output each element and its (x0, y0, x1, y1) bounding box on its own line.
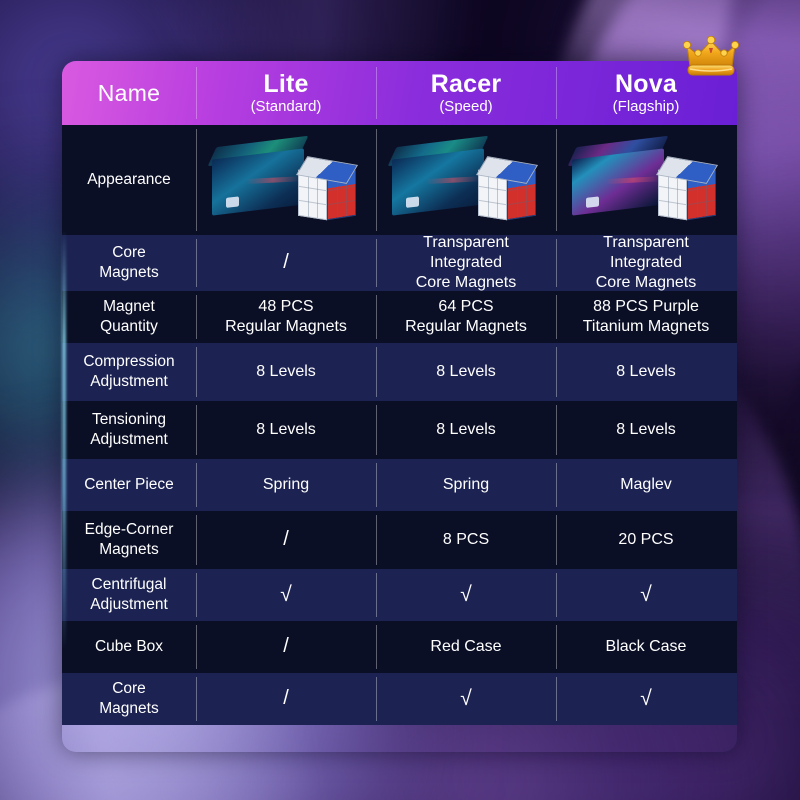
cell-value: 20 PCS (618, 530, 673, 550)
cube-gridline (668, 172, 669, 216)
row-label-cell: CoreMagnets (62, 673, 196, 725)
cell-value: / (283, 527, 289, 552)
row-label: Appearance (87, 170, 171, 190)
row-value-cell: 88 PCS PurpleTitanium Magnets (556, 291, 736, 343)
cube-box-lite-image (206, 136, 366, 224)
row-value-cell: 8 Levels (196, 401, 376, 459)
row-label-cell: CentrifugalAdjustment (62, 569, 196, 621)
rubiks-cube-image (298, 162, 358, 222)
row-label: CoreMagnets (99, 243, 158, 282)
crown-icon (683, 36, 739, 80)
header-title: Racer (431, 71, 502, 97)
table-row: Cube Box/Red CaseBlack Case (62, 621, 737, 673)
table-row: Center PieceSpringSpringMaglev (62, 459, 737, 511)
table-row: Appearance (62, 125, 737, 235)
table-row: CentrifugalAdjustment√√√ (62, 569, 737, 621)
cell-value: 8 Levels (616, 362, 676, 382)
cube-gridline (659, 185, 686, 190)
row-value-cell: Spring (196, 459, 376, 511)
row-label-cell: MagnetQuantity (62, 291, 196, 343)
row-label: Center Piece (84, 475, 174, 495)
cell-value: 8 Levels (256, 420, 316, 440)
row-value-cell: 8 Levels (376, 343, 556, 401)
row-value-cell (556, 125, 736, 235)
cell-value: 8 PCS (443, 530, 489, 550)
brand-logo-icon (586, 196, 599, 208)
cube-gridline (488, 172, 489, 216)
row-label: CentrifugalAdjustment (90, 575, 168, 614)
header-cell-name: Name (62, 61, 196, 125)
cell-value: 8 Levels (436, 420, 496, 440)
header-subtitle: (Standard) (251, 98, 322, 116)
row-value-cell: 48 PCSRegular Magnets (196, 291, 376, 343)
row-value-cell: Spring (376, 459, 556, 511)
cell-value: Black Case (606, 637, 687, 657)
row-label: TensioningAdjustment (90, 410, 168, 449)
row-label: CompressionAdjustment (83, 352, 174, 391)
cube-gridline (299, 200, 326, 205)
cell-value: / (283, 634, 289, 659)
header-name-label: Name (98, 80, 161, 107)
row-value-cell: √ (556, 673, 736, 725)
row-label: MagnetQuantity (100, 297, 158, 336)
row-value-cell: 20 PCS (556, 511, 736, 569)
product-box-front (392, 148, 484, 215)
table-row: CoreMagnets/√√ (62, 673, 737, 725)
row-label-cell: Edge-CornerMagnets (62, 511, 196, 569)
row-value-cell: / (196, 235, 376, 291)
row-value-cell: TransparentIntegratedCore Magnets (376, 235, 556, 291)
cell-value: / (283, 250, 289, 275)
cube-gridline (479, 185, 506, 190)
table-row: CompressionAdjustment8 Levels8 Levels8 L… (62, 343, 737, 401)
product-box-front (212, 148, 304, 215)
cell-value: √ (640, 686, 652, 712)
cell-value: Spring (443, 475, 489, 495)
row-value-cell: Red Case (376, 621, 556, 673)
row-label: Edge-CornerMagnets (85, 520, 174, 559)
table-body: AppearanceCoreMagnets/TransparentIntegra… (62, 125, 737, 725)
row-value-cell: 8 Levels (376, 401, 556, 459)
cube-box-racer-image (386, 136, 546, 224)
row-value-cell: 8 Levels (196, 343, 376, 401)
header-cell-lite[interactable]: Lite(Standard) (196, 61, 376, 125)
cube-gridline (328, 185, 355, 190)
cube-gridline (479, 200, 506, 205)
cell-value: √ (640, 582, 652, 608)
cell-value: 8 Levels (256, 362, 316, 382)
row-label-cell: Center Piece (62, 459, 196, 511)
row-label-cell: TensioningAdjustment (62, 401, 196, 459)
cell-value: √ (280, 582, 292, 608)
row-value-cell: Black Case (556, 621, 736, 673)
cube-gridline (688, 185, 715, 190)
cube-gridline (308, 172, 309, 216)
table-row: Edge-CornerMagnets/8 PCS20 PCS (62, 511, 737, 569)
cube-gridline (508, 200, 535, 205)
row-value-cell: / (196, 673, 376, 725)
row-value-cell: / (196, 621, 376, 673)
table-row: CoreMagnets/TransparentIntegratedCore Ma… (62, 235, 737, 291)
cell-value: 88 PCS PurpleTitanium Magnets (583, 297, 710, 337)
cell-value: 64 PCSRegular Magnets (405, 297, 527, 337)
cube-gridline (677, 174, 678, 218)
product-box-front (572, 148, 664, 215)
cube-gridline (299, 185, 326, 190)
brand-logo-icon (226, 196, 239, 208)
row-label-cell: Cube Box (62, 621, 196, 673)
cell-value: 48 PCSRegular Magnets (225, 297, 347, 337)
row-label: CoreMagnets (99, 679, 158, 718)
cube-gridline (497, 174, 498, 218)
cell-value: Maglev (620, 475, 672, 495)
row-value-cell: Maglev (556, 459, 736, 511)
row-value-cell (196, 125, 376, 235)
row-label: Cube Box (95, 637, 163, 657)
row-label-cell: CoreMagnets (62, 235, 196, 291)
cell-value: 8 Levels (436, 362, 496, 382)
row-value-cell (376, 125, 556, 235)
cell-value: Red Case (430, 637, 501, 657)
cell-value: TransparentIntegratedCore Magnets (596, 233, 697, 293)
table-row: TensioningAdjustment8 Levels8 Levels8 Le… (62, 401, 737, 459)
cell-value: 8 Levels (616, 420, 676, 440)
cube-gridline (328, 200, 355, 205)
header-cell-racer[interactable]: Racer(Speed) (376, 61, 556, 125)
row-value-cell: 64 PCSRegular Magnets (376, 291, 556, 343)
header-subtitle: (Flagship) (613, 98, 680, 116)
cube-gridline (659, 200, 686, 205)
cube-box-nova-image (566, 136, 726, 224)
row-value-cell: 8 PCS (376, 511, 556, 569)
header-title: Lite (263, 71, 308, 97)
row-value-cell: √ (376, 673, 556, 725)
header-subtitle: (Speed) (439, 98, 492, 116)
row-value-cell: √ (196, 569, 376, 621)
table-row: MagnetQuantity48 PCSRegular Magnets64 PC… (62, 291, 737, 343)
cell-value: √ (460, 582, 472, 608)
cell-value: Spring (263, 475, 309, 495)
cube-gridline (508, 185, 535, 190)
row-value-cell: TransparentIntegratedCore Magnets (556, 235, 736, 291)
row-value-cell: 8 Levels (556, 343, 736, 401)
rubiks-cube-image (658, 162, 718, 222)
row-label-cell: Appearance (62, 125, 196, 235)
cube-gridline (317, 174, 318, 218)
brand-logo-icon (406, 196, 419, 208)
cell-value: / (283, 686, 289, 711)
cell-value: √ (460, 686, 472, 712)
row-value-cell: √ (556, 569, 736, 621)
row-value-cell: 8 Levels (556, 401, 736, 459)
header-title: Nova (615, 71, 677, 97)
rubiks-cube-image (478, 162, 538, 222)
comparison-table: NameLite(Standard)Racer(Speed)Nova(Flags… (62, 61, 737, 752)
row-label-cell: CompressionAdjustment (62, 343, 196, 401)
cell-value: TransparentIntegratedCore Magnets (416, 233, 517, 293)
row-value-cell: / (196, 511, 376, 569)
cube-gridline (688, 200, 715, 205)
row-value-cell: √ (376, 569, 556, 621)
table-header-row: NameLite(Standard)Racer(Speed)Nova(Flags… (62, 61, 737, 125)
